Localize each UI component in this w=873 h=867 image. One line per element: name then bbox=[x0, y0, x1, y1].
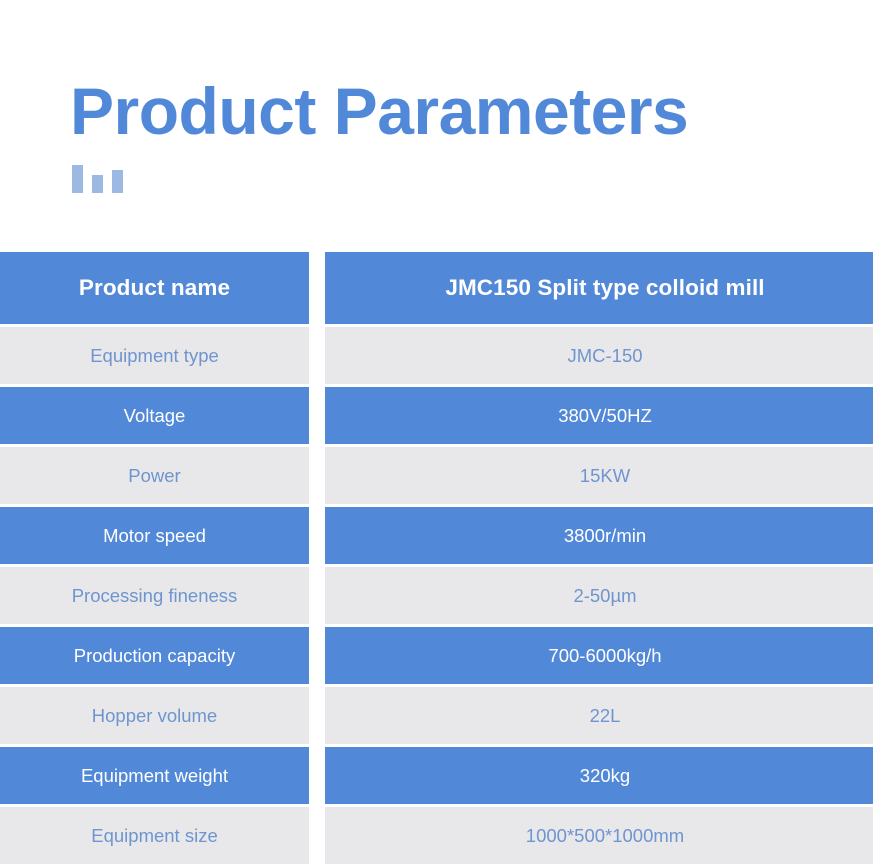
table-row: Motor speed3800r/min bbox=[0, 507, 873, 564]
table-header-row: Product name JMC150 Split type colloid m… bbox=[0, 252, 873, 324]
parameter-value-cell: 700-6000kg/h bbox=[325, 627, 873, 684]
parameter-value-cell: 15KW bbox=[325, 447, 873, 504]
table-row: Equipment typeJMC-150 bbox=[0, 327, 873, 384]
column-divider bbox=[309, 252, 325, 324]
parameter-value-cell: 320kg bbox=[325, 747, 873, 804]
column-divider bbox=[309, 807, 325, 864]
table-header-product-name: Product name bbox=[0, 252, 309, 324]
accent-bar-short bbox=[92, 175, 103, 193]
table-row: Processing fineness2-50µm bbox=[0, 567, 873, 624]
parameter-value-cell: 3800r/min bbox=[325, 507, 873, 564]
parameter-value-cell: 22L bbox=[325, 687, 873, 744]
column-divider bbox=[309, 567, 325, 624]
table-row: Voltage380V/50HZ bbox=[0, 387, 873, 444]
parameter-name-cell: Power bbox=[0, 447, 309, 504]
bar-chart-accent-icon bbox=[72, 163, 142, 193]
parameter-name-cell: Voltage bbox=[0, 387, 309, 444]
page-title: Product Parameters bbox=[70, 78, 688, 144]
table-row: Hopper volume22L bbox=[0, 687, 873, 744]
parameter-value-cell: 2-50µm bbox=[325, 567, 873, 624]
parameter-name-cell: Hopper volume bbox=[0, 687, 309, 744]
column-divider bbox=[309, 327, 325, 384]
parameter-value-cell: 1000*500*1000mm bbox=[325, 807, 873, 864]
column-divider bbox=[309, 447, 325, 504]
parameter-value-cell: 380V/50HZ bbox=[325, 387, 873, 444]
parameter-name-cell: Equipment type bbox=[0, 327, 309, 384]
table-row: Power15KW bbox=[0, 447, 873, 504]
table-row: Equipment size1000*500*1000mm bbox=[0, 807, 873, 864]
column-divider bbox=[309, 387, 325, 444]
column-divider bbox=[309, 627, 325, 684]
column-divider bbox=[309, 507, 325, 564]
parameter-value-cell: JMC-150 bbox=[325, 327, 873, 384]
table-row: Equipment weight320kg bbox=[0, 747, 873, 804]
accent-bar-medium bbox=[112, 170, 123, 193]
title-block: Product Parameters bbox=[0, 0, 873, 252]
table-header-product-value: JMC150 Split type colloid mill bbox=[325, 252, 873, 324]
accent-bar-tall bbox=[72, 165, 83, 193]
parameter-name-cell: Production capacity bbox=[0, 627, 309, 684]
parameter-name-cell: Equipment weight bbox=[0, 747, 309, 804]
product-parameters-table: Product name JMC150 Split type colloid m… bbox=[0, 252, 873, 867]
parameter-name-cell: Equipment size bbox=[0, 807, 309, 864]
parameter-name-cell: Motor speed bbox=[0, 507, 309, 564]
column-divider bbox=[309, 747, 325, 804]
column-divider bbox=[309, 687, 325, 744]
parameter-name-cell: Processing fineness bbox=[0, 567, 309, 624]
table-row: Production capacity700-6000kg/h bbox=[0, 627, 873, 684]
product-parameters-page: Product Parameters Product name JMC150 S… bbox=[0, 0, 873, 867]
